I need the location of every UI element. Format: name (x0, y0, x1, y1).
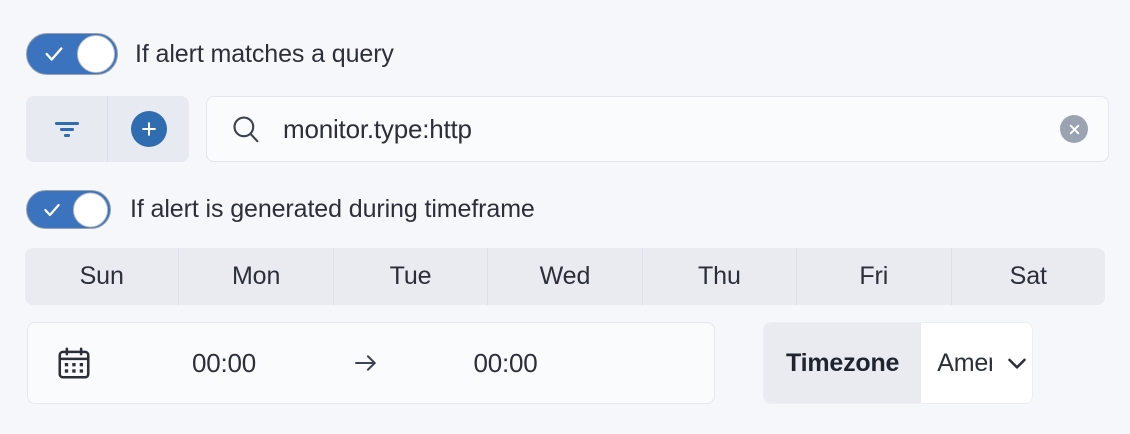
time-range-row: 00:00 00:00 Timezone Americ (27, 322, 1033, 404)
day-button-thu[interactable]: Thu (642, 248, 796, 305)
query-button-group (26, 96, 189, 162)
day-button-fri[interactable]: Fri (796, 248, 950, 305)
end-time-value[interactable]: 00:00 (383, 348, 628, 379)
alert-conditions-panel: If alert matches a query (0, 0, 1130, 434)
day-button-mon[interactable]: Mon (178, 248, 332, 305)
toggle-if-alert-matches-query[interactable] (26, 33, 118, 75)
timeframe-toggle-label: If alert is generated during timeframe (130, 195, 535, 224)
check-icon (42, 200, 62, 220)
clear-search-button[interactable] (1060, 115, 1088, 143)
query-input-row (26, 96, 1109, 162)
start-time-value[interactable]: 00:00 (99, 348, 349, 379)
add-query-button[interactable] (107, 96, 189, 162)
toggle-knob (77, 35, 115, 73)
timezone-label: Timezone (764, 323, 921, 403)
query-toggle-row: If alert matches a query (26, 33, 394, 75)
search-input[interactable] (283, 114, 1060, 145)
timezone-select[interactable]: Americ (921, 323, 1032, 403)
day-button-tue[interactable]: Tue (333, 248, 487, 305)
toggle-knob (73, 192, 108, 227)
close-icon (1068, 123, 1081, 136)
day-of-week-selector: Sun Mon Tue Wed Thu Fri Sat (25, 248, 1105, 305)
time-range-field[interactable]: 00:00 00:00 (27, 322, 715, 404)
day-button-sun[interactable]: Sun (25, 248, 178, 305)
arrow-right-icon (349, 348, 383, 378)
calendar-icon (55, 344, 93, 382)
search-icon (229, 112, 263, 146)
plus-circle-icon (131, 111, 167, 147)
filter-button[interactable] (26, 96, 107, 162)
toggle-if-alert-generated-during-timeframe[interactable] (26, 190, 111, 229)
timezone-control: Timezone Americ (763, 322, 1033, 404)
timezone-value: Americ (937, 349, 992, 378)
timeframe-toggle-row: If alert is generated during timeframe (26, 190, 535, 229)
query-toggle-label: If alert matches a query (135, 40, 394, 69)
chevron-down-icon (1002, 348, 1032, 378)
check-icon (43, 43, 65, 65)
query-search-box[interactable] (206, 96, 1109, 162)
day-button-sat[interactable]: Sat (951, 248, 1105, 305)
day-button-wed[interactable]: Wed (487, 248, 641, 305)
filter-icon (52, 118, 82, 140)
